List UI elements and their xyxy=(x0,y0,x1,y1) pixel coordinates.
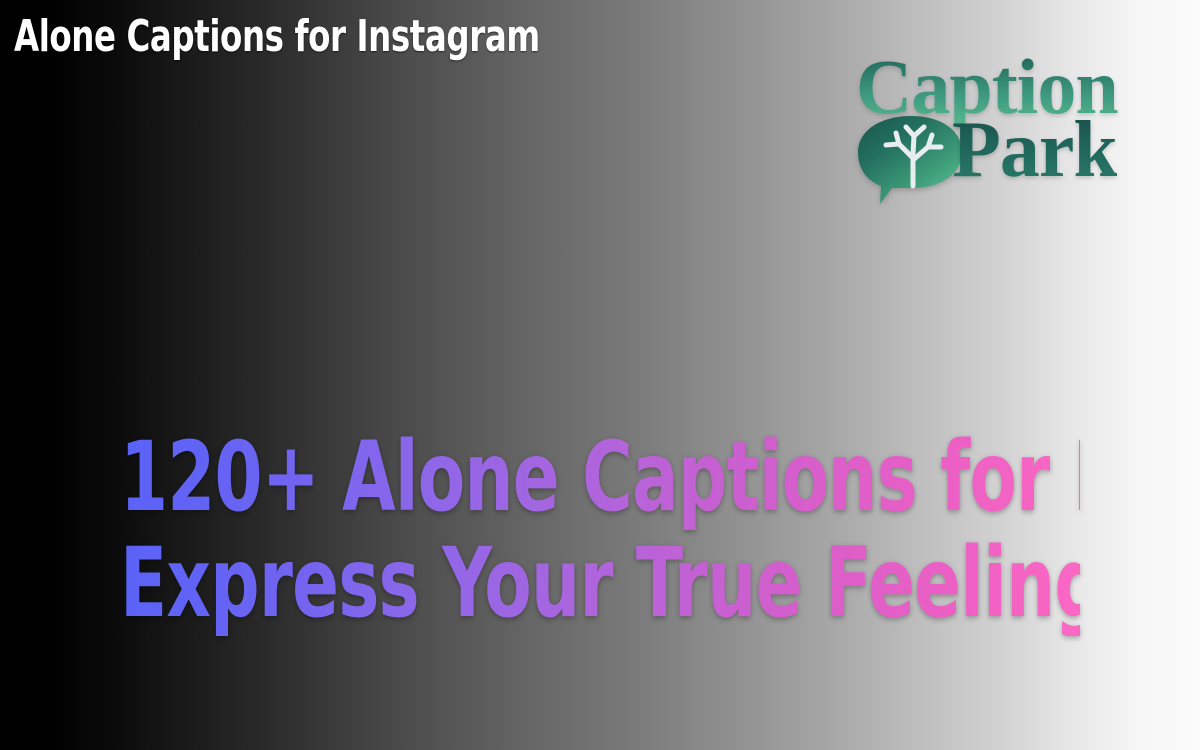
headline-line-2: Express Your True Feelings in 2026 xyxy=(120,530,1080,636)
page-title: Alone Captions for Instagram xyxy=(14,12,540,62)
headline-line-1: 120+ Alone Captions for Instagram to xyxy=(120,424,1080,530)
logo-word-park: Park xyxy=(952,110,1117,190)
headline: 120+ Alone Captions for Instagram to Exp… xyxy=(0,424,1200,636)
site-logo[interactable]: Caption Park xyxy=(848,48,1138,208)
poster-canvas: Alone Captions for Instagram xyxy=(0,0,1200,750)
